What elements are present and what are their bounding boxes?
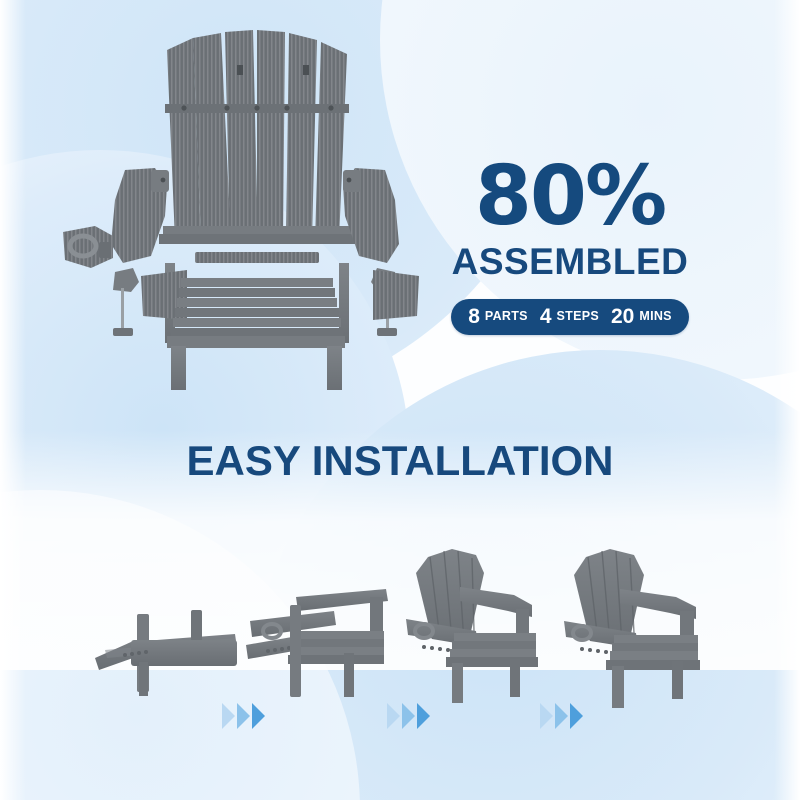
seat-back-fan-panel: [159, 30, 357, 244]
mins-count: 20: [611, 306, 634, 327]
chevron-right-icon: [222, 703, 235, 729]
left-leg-bracket: [113, 268, 139, 336]
infographic-canvas: 80% ASSEMBLED 8 PARTS 4 STEPS 20 MINS EA…: [0, 0, 800, 800]
mins-label: MINS: [639, 310, 671, 323]
right-armrest: [343, 168, 399, 263]
assembly-stats-badge: 8 PARTS 4 STEPS 20 MINS: [451, 299, 689, 335]
parts-count: 8: [468, 306, 480, 327]
hero-text-block: 80% ASSEMBLED 8 PARTS 4 STEPS 20 MINS: [440, 158, 700, 335]
steps-count: 4: [540, 306, 552, 327]
parts-label: PARTS: [485, 310, 528, 323]
steps-label: STEPS: [557, 310, 600, 323]
assembly-step-3-chair-back-upright: [398, 535, 578, 710]
assembled-label: ASSEMBLED: [440, 243, 700, 280]
left-armrest: [111, 168, 169, 263]
exploded-chair-illustration: [55, 20, 455, 390]
seat-slat-assembly: [141, 263, 419, 390]
easy-installation-title: EASY INSTALLATION: [0, 437, 800, 485]
assembly-step-4-chair-fully-assembled: [552, 533, 732, 708]
percent-headline: 80%: [440, 158, 700, 237]
cup-holder-ring: [63, 226, 113, 268]
front-crossbar: [195, 252, 319, 263]
assembly-steps-row: [0, 530, 800, 710]
